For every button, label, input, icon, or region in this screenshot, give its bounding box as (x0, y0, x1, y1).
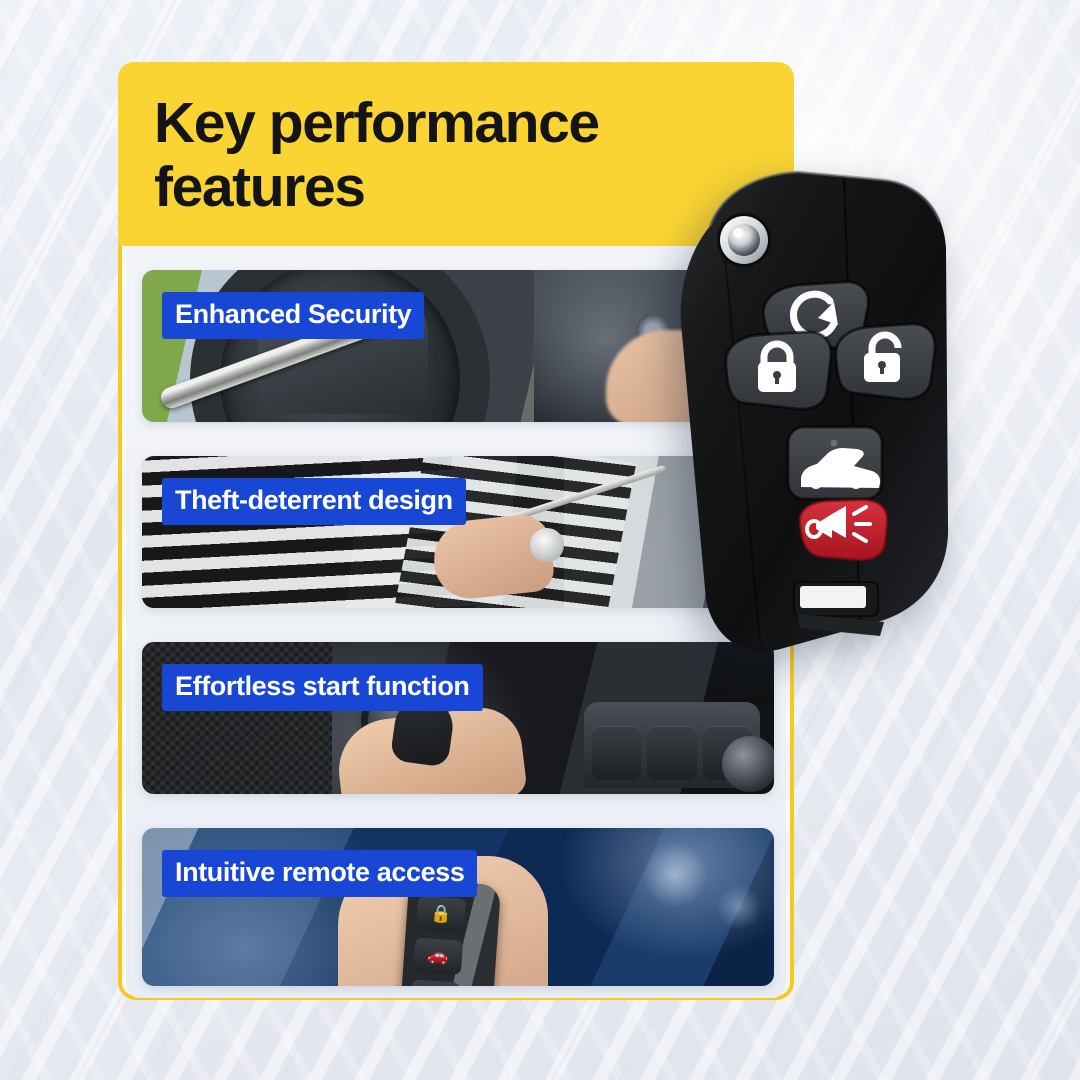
small-fob-lock-icon: 🔒 (416, 896, 466, 933)
trunk-release-button[interactable] (788, 427, 882, 499)
feature-label-1: Enhanced Security (162, 292, 424, 339)
feature-label-3: Effortless start function (162, 664, 483, 711)
console-key-nav (647, 726, 696, 780)
chrome-rivet (717, 213, 771, 267)
key-bundle (530, 528, 564, 562)
feature-row-intuitive-remote[interactable]: 🔒 🚗 ◯ Intuitive remote access (142, 828, 774, 986)
feature-label-4: Intuitive remote access (162, 850, 477, 897)
small-fob-trunk-icon: ◯ (410, 979, 460, 986)
flip-key-remote-fob (648, 152, 968, 668)
console-rotary-knob (722, 736, 774, 792)
page-title-line-1: Key performance (154, 91, 599, 155)
bokeh-highlight-small (716, 884, 762, 930)
feature-label-2: Theft-deterrent design (162, 478, 466, 525)
unlock-button[interactable] (836, 324, 935, 399)
small-fob-car-icon: 🚗 (413, 938, 463, 975)
infographic-canvas: Key performancefeatures Enhanced Securit… (0, 0, 1080, 1080)
page-title-line-2: features (154, 155, 365, 219)
bokeh-highlight-large (642, 842, 708, 908)
console-key-vol (592, 726, 641, 780)
lock-button[interactable] (726, 332, 831, 409)
panic-alarm-button[interactable] (800, 500, 887, 560)
key-blade-slot (794, 582, 884, 636)
